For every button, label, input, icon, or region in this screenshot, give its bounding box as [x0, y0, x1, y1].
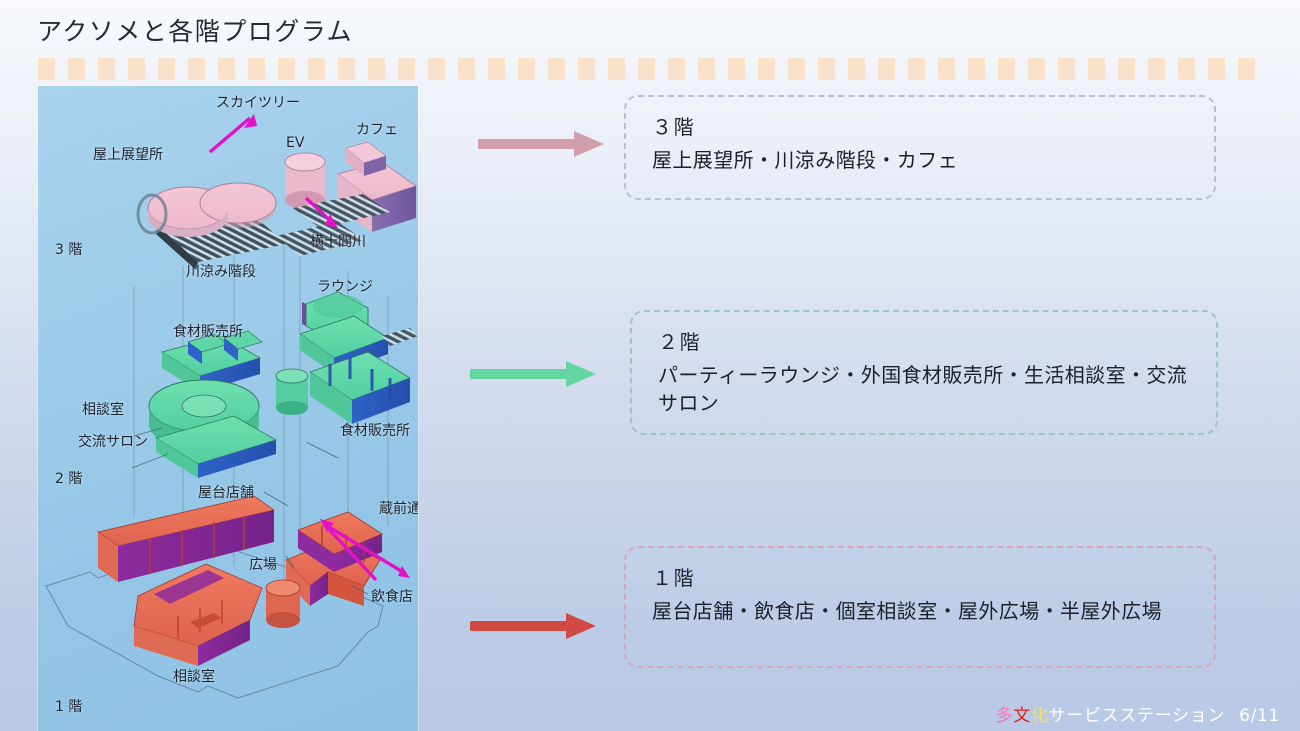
floor-3-program: 屋上展望所・川涼み階段・カフェ: [652, 146, 1192, 174]
arrow-to-floor-1: [470, 613, 596, 639]
axo-label-floor-2: 2 階: [55, 468, 82, 488]
footer: 多文化サービスステーション6/11: [996, 701, 1280, 726]
arrow-shaft: [470, 369, 568, 379]
axo-label-yatai-shops: 屋台店舗: [198, 482, 254, 502]
arrow-shaft: [470, 621, 568, 631]
floor-3-label: ３階: [652, 111, 1192, 140]
axo-label-consult-room-1f: 相談室: [173, 666, 215, 686]
floor-2-program: パーティーラウンジ・外国食材販売所・生活相談室・交流サロン: [658, 361, 1194, 418]
floor-1-program: 屋台店舗・飲食店・個室相談室・屋外広場・半屋外広場: [652, 597, 1192, 625]
elevator-volume: [285, 153, 325, 209]
footer-brand-char-2: 文: [1013, 706, 1031, 726]
axo-label-skytree: スカイツリー: [216, 92, 300, 112]
floor-1-label: １階: [652, 562, 1192, 591]
arrow-to-floor-3: [478, 131, 604, 157]
slide-root: アクソメと各階プログラム: [0, 0, 1300, 731]
floor-2-label: ２階: [658, 326, 1194, 355]
arrow-head: [566, 361, 596, 387]
floor-3-info-box: ３階 屋上展望所・川涼み階段・カフェ: [624, 95, 1216, 200]
axo-label-lounge: ラウンジ: [317, 276, 373, 296]
floor-2-info-box: ２階 パーティーラウンジ・外国食材販売所・生活相談室・交流サロン: [630, 310, 1218, 435]
axo-label-plaza: 広場: [249, 554, 277, 574]
footer-brand-rest: サービスステーション: [1049, 706, 1225, 726]
arrow-head: [574, 131, 604, 157]
dashed-divider: [38, 58, 1266, 80]
arrow-to-floor-2: [470, 361, 596, 387]
consult-room-1f-volume: [134, 564, 262, 666]
yatai-shops-volume: [98, 496, 274, 582]
axo-label-food-sales-left: 食材販売所: [173, 321, 243, 341]
floor2-left-volume: [149, 331, 276, 478]
arrow-shaft: [478, 139, 576, 149]
axo-label-river-stairs: 川涼み階段: [186, 261, 256, 281]
axo-label-kuramae-street: 蔵前通り: [379, 498, 418, 518]
axo-label-rooftop-deck: 屋上展望所: [93, 144, 163, 164]
axo-label-floor-3: 3 階: [55, 239, 82, 259]
axo-label-floor-1: 1 階: [55, 696, 82, 716]
axo-label-cafe: カフェ: [356, 119, 398, 139]
axo-label-food-sales-right: 食材販売所: [340, 420, 410, 440]
arrow-head: [566, 613, 596, 639]
axo-label-salon: 交流サロン: [78, 431, 148, 451]
axo-label-consult-room-2f: 相談室: [82, 399, 124, 419]
footer-brand-char-1: 多: [996, 706, 1014, 726]
floor-1-info-box: １階 屋台店舗・飲食店・個室相談室・屋外広場・半屋外広場: [624, 546, 1216, 668]
floor2-right-volume: [276, 292, 418, 424]
page-number: 6/11: [1239, 706, 1280, 726]
axo-label-elevator: EV: [286, 135, 304, 151]
plaza-cylinder: [266, 580, 300, 628]
axonometric-diagram: スカイツリー 屋上展望所 EV カフェ 3 階 横十間川 川涼み階段 ラウンジ …: [38, 86, 418, 731]
skytree-direction-arrow: [210, 114, 257, 152]
page-title: アクソメと各階プログラム: [37, 12, 353, 48]
axo-label-yokojikken-river: 横十間川: [310, 231, 366, 251]
footer-brand-char-3: 化: [1031, 706, 1049, 726]
axo-label-restaurant: 飲食店: [371, 586, 413, 606]
